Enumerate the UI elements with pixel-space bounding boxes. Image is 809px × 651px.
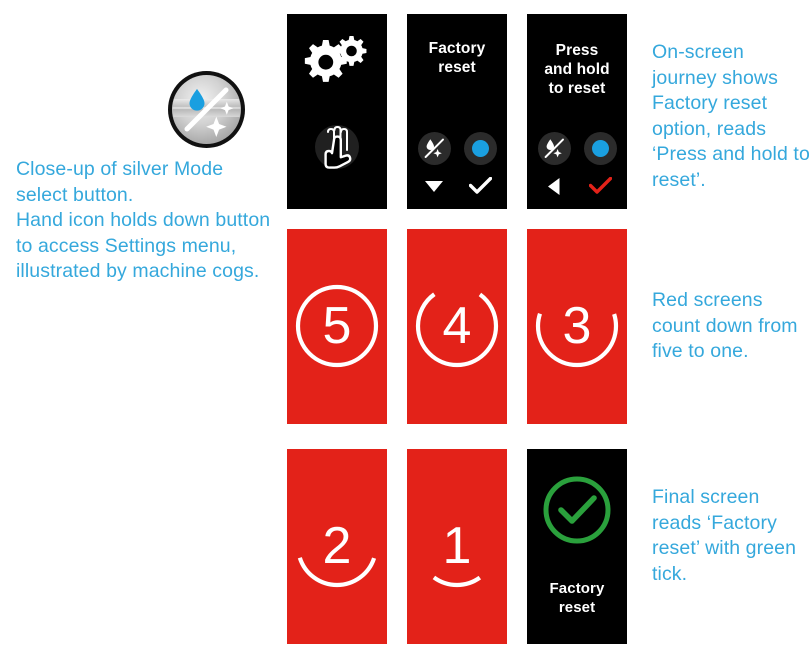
screen-title-factory-reset: Factory reset	[407, 39, 507, 77]
left-arrow-icon[interactable]	[538, 175, 571, 197]
screen-title-reset-complete: Factory reset	[527, 579, 627, 617]
screen-nav-row	[527, 175, 627, 197]
countdown-number-4: 4	[443, 297, 472, 355]
device-screen-settings	[287, 14, 387, 209]
screen-title-press-hold: Press and hold to reset	[527, 41, 627, 98]
caption-final-screen: Final screen reads ‘Factory reset’ with …	[652, 485, 809, 587]
device-screen-reset-complete: Factory reset	[527, 449, 627, 644]
device-screen-countdown-5: 5	[287, 229, 387, 424]
screen-icon-row	[407, 132, 507, 165]
tick-glyph	[469, 177, 492, 195]
device-screen-factory-reset: Factory reset	[407, 14, 507, 209]
droplet-sparkle-icon[interactable]	[418, 132, 451, 165]
device-screen-countdown-3: 3	[527, 229, 627, 424]
droplet-sparkle-glyph	[422, 136, 447, 161]
power-dot-icon[interactable]	[464, 132, 497, 165]
down-arrow-glyph	[424, 180, 444, 193]
countdown-graphic-1: 1	[407, 449, 507, 644]
power-dot	[592, 140, 609, 157]
countdown-graphic-4: 4	[407, 229, 507, 424]
device-screen-countdown-4: 4	[407, 229, 507, 424]
countdown-graphic-3: 3	[527, 229, 627, 424]
green-tick-circle-icon	[527, 457, 627, 567]
countdown-number-3: 3	[563, 297, 592, 355]
caption-onscreen-journey: On-screen journey shows Factory reset op…	[652, 40, 809, 193]
mode-select-button[interactable]	[166, 69, 247, 150]
countdown-graphic-5: 5	[287, 229, 387, 424]
cogs-icon	[305, 36, 367, 82]
caption-mode-button: Close-up of silver Mode select button. H…	[16, 157, 278, 285]
power-dot-icon[interactable]	[584, 132, 617, 165]
tick-icon-red[interactable]	[584, 175, 617, 197]
droplet-sparkle-glyph	[542, 136, 567, 161]
droplet-sparkle-icon[interactable]	[538, 132, 571, 165]
down-arrow-icon[interactable]	[418, 175, 451, 197]
countdown-number-1: 1	[443, 517, 472, 575]
countdown-number-5: 5	[323, 297, 352, 355]
illustration-canvas: Close-up of silver Mode select button. H…	[0, 0, 809, 651]
tick-glyph-red	[589, 177, 612, 195]
tick-icon[interactable]	[464, 175, 497, 197]
power-dot	[472, 140, 489, 157]
device-screen-countdown-1: 1	[407, 449, 507, 644]
screen-nav-row	[407, 175, 507, 197]
mode-button-graphic	[166, 69, 247, 150]
countdown-graphic-2: 2	[287, 449, 387, 644]
left-arrow-glyph	[547, 177, 561, 196]
device-screen-press-hold: Press and hold to reset	[527, 14, 627, 209]
hand-press-icon	[315, 125, 359, 169]
caption-red-countdown: Red screens count down from five to one.	[652, 288, 809, 365]
screen-icon-row	[527, 132, 627, 165]
settings-screen-graphic	[287, 14, 387, 209]
device-screen-countdown-2: 2	[287, 449, 387, 644]
countdown-number-2: 2	[323, 517, 352, 575]
